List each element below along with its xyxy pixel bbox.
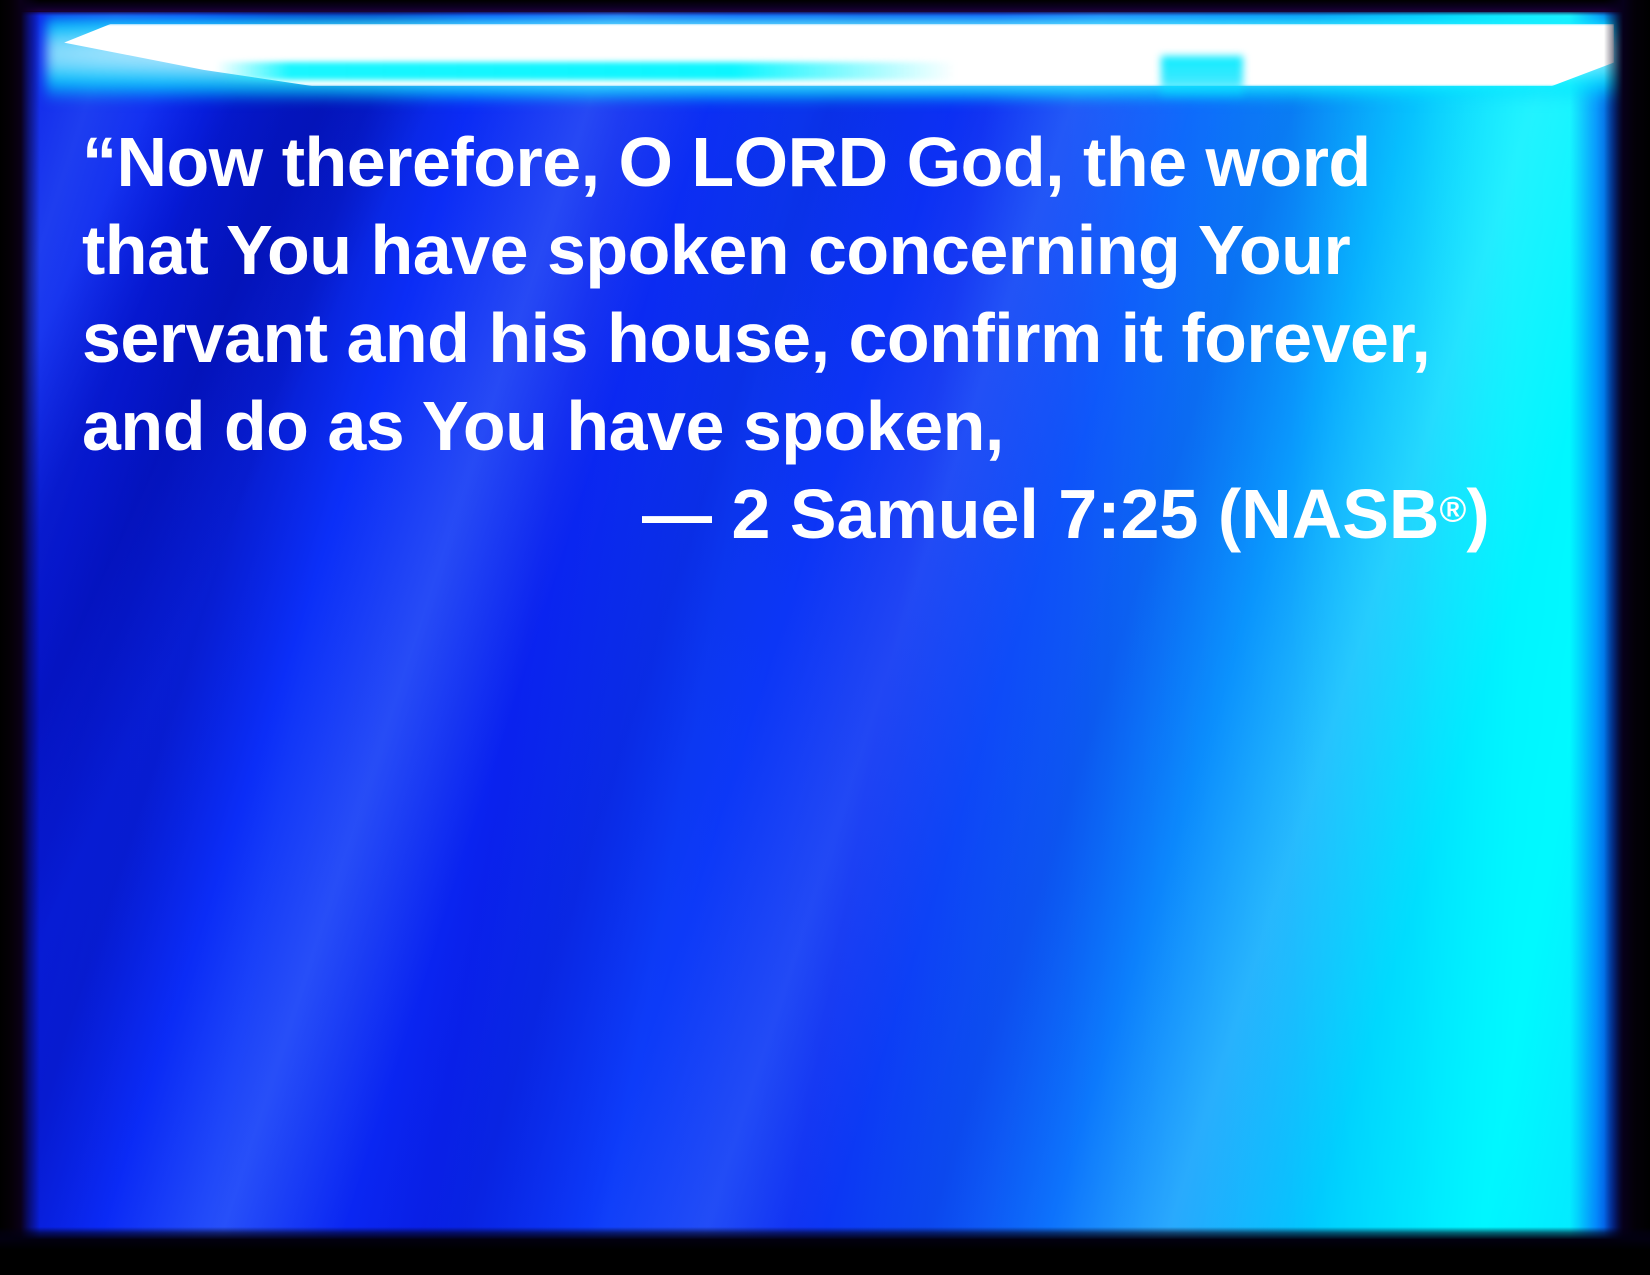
verse-slide: “Now therefore, O LORD God, the word tha… [0, 0, 1650, 1275]
top-glow-cyan-streak [216, 62, 956, 80]
top-glow-cyan-notch [1161, 56, 1243, 100]
verse-line-2: that You have spoken concerning Your [82, 206, 1542, 294]
background-right-rim [1570, 12, 1628, 1239]
top-glow-banner [16, 10, 1628, 106]
citation-main: — 2 Samuel 7:25 (NASB [642, 475, 1439, 553]
registered-trademark-icon: ® [1439, 489, 1466, 530]
verse-line-4: and do as You have spoken, [82, 382, 1542, 470]
verse-line-3: servant and his house, confirm it foreve… [82, 294, 1542, 382]
verse-citation: — 2 Samuel 7:25 (NASB®) [82, 470, 1542, 558]
verse-line-1: “Now therefore, O LORD God, the word [82, 118, 1542, 206]
verse-text-block: “Now therefore, O LORD God, the word tha… [82, 118, 1542, 558]
citation-close-paren: ) [1466, 475, 1489, 553]
